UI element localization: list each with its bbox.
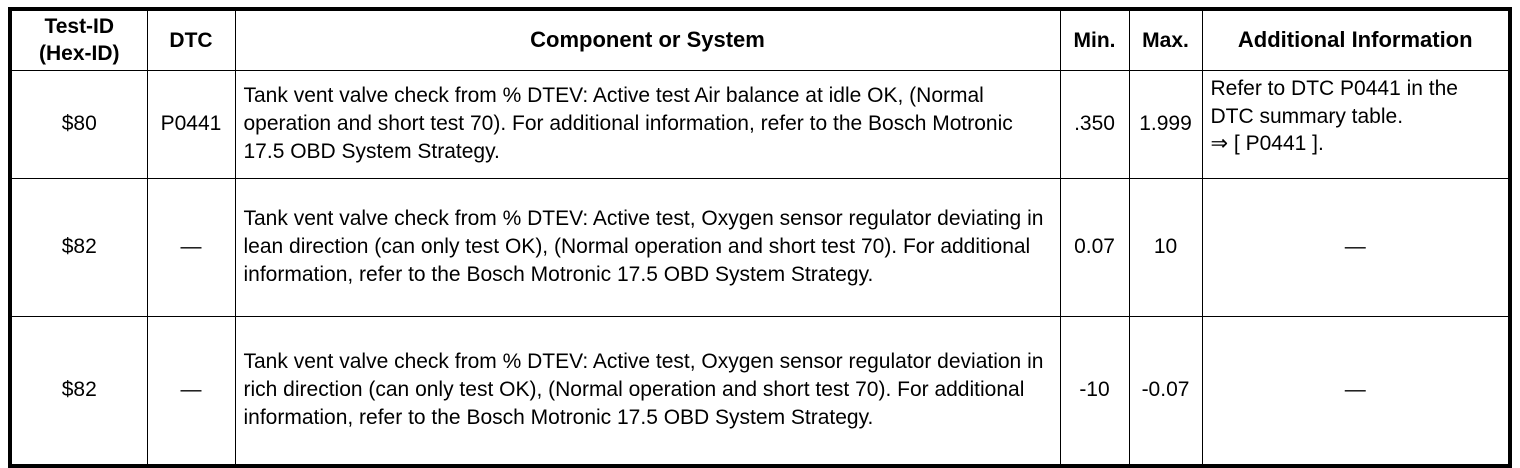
cell-min: 0.07 bbox=[1060, 178, 1129, 316]
diagnostic-spec-table: Test-ID (Hex-ID) DTC Component or System… bbox=[8, 7, 1512, 468]
document-page: Test-ID (Hex-ID) DTC Component or System… bbox=[0, 0, 1520, 452]
column-header-additional-information: Additional Information bbox=[1202, 9, 1510, 70]
column-header-test-id: Test-ID (Hex-ID) bbox=[10, 9, 147, 70]
cell-dtc: — bbox=[147, 316, 235, 466]
table-row: $80 P0441 Tank vent valve check from % D… bbox=[10, 70, 1510, 178]
cell-test-id: $80 bbox=[10, 70, 147, 178]
table-row: $82 — Tank vent valve check from % DTEV:… bbox=[10, 178, 1510, 316]
cell-additional-information: Refer to DTC P0441 in the DTC summary ta… bbox=[1202, 70, 1510, 178]
cell-additional-information: — bbox=[1202, 316, 1510, 466]
em-dash-placeholder: — bbox=[181, 233, 202, 260]
cell-max: 1.999 bbox=[1129, 70, 1202, 178]
cell-test-id: $82 bbox=[10, 316, 147, 466]
column-header-min: Min. bbox=[1060, 9, 1129, 70]
cell-component-or-system: Tank vent valve check from % DTEV: Activ… bbox=[235, 316, 1060, 466]
column-header-dtc: DTC bbox=[147, 9, 235, 70]
table-header-row: Test-ID (Hex-ID) DTC Component or System… bbox=[10, 9, 1510, 70]
cell-component-or-system: Tank vent valve check from % DTEV: Activ… bbox=[235, 70, 1060, 178]
cell-dtc: — bbox=[147, 178, 235, 316]
em-dash-placeholder: — bbox=[181, 376, 202, 403]
cell-max: -0.07 bbox=[1129, 316, 1202, 466]
cell-test-id: $82 bbox=[10, 178, 147, 316]
table-header: Test-ID (Hex-ID) DTC Component or System… bbox=[10, 9, 1510, 70]
table-row: $82 — Tank vent valve check from % DTEV:… bbox=[10, 316, 1510, 466]
cell-min: -10 bbox=[1060, 316, 1129, 466]
cell-additional-information: — bbox=[1202, 178, 1510, 316]
column-header-max: Max. bbox=[1129, 9, 1202, 70]
cell-max: 10 bbox=[1129, 178, 1202, 316]
dtc-cross-reference-link[interactable]: ⇒ [ P0441 ]. bbox=[1211, 132, 1324, 155]
em-dash-placeholder: — bbox=[1345, 376, 1366, 403]
cell-dtc: P0441 bbox=[147, 70, 235, 178]
column-header-component-or-system: Component or System bbox=[235, 9, 1060, 70]
cell-min: .350 bbox=[1060, 70, 1129, 178]
additional-information-text: Refer to DTC P0441 in the DTC summary ta… bbox=[1211, 77, 1458, 128]
cell-component-or-system: Tank vent valve check from % DTEV: Activ… bbox=[235, 178, 1060, 316]
table-body: $80 P0441 Tank vent valve check from % D… bbox=[10, 70, 1510, 466]
em-dash-placeholder: — bbox=[1345, 233, 1366, 260]
